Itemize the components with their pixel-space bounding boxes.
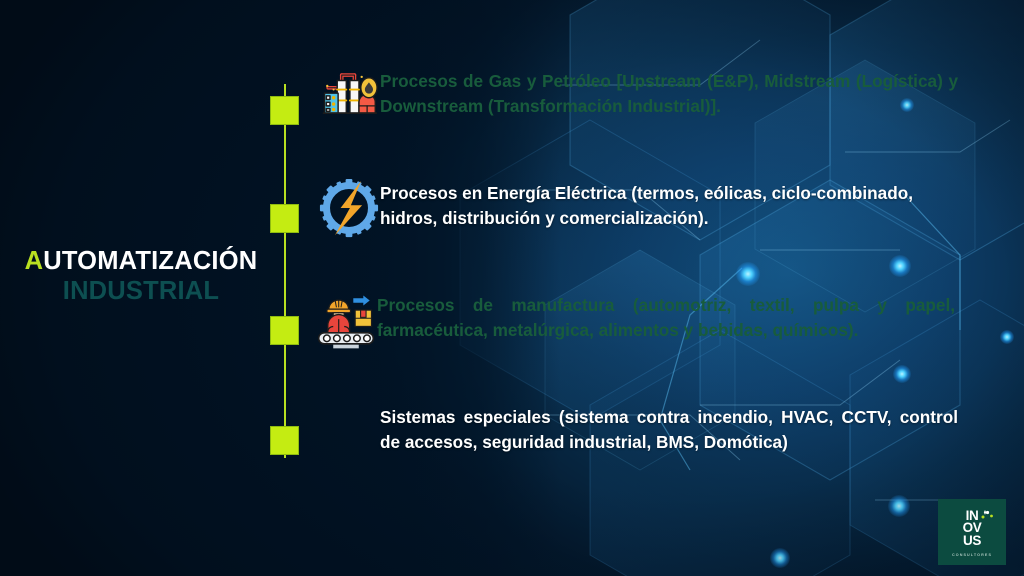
timeline-node-4[interactable] xyxy=(270,426,299,455)
title-accent-letter: A xyxy=(25,247,44,275)
timeline-connector-line xyxy=(284,84,286,458)
logo-mark: IN OV US xyxy=(950,508,994,552)
slide-canvas: AUTOMATIZACIÓN INDUSTRIAL xyxy=(0,0,1024,576)
title-line-primary: AUTOMATIZACIÓN xyxy=(0,248,282,276)
timeline-track xyxy=(270,70,306,470)
factory-worker-conveyor-icon xyxy=(315,290,377,352)
sparkle-icon xyxy=(979,508,995,522)
content-row-special-systems[interactable]: Sistemas especiales (sistema contra ince… xyxy=(318,402,958,464)
content-row-manufacturing[interactable]: Procesos de manufactura (automotriz, tex… xyxy=(315,290,955,352)
content-row-text: Procesos en Energía Eléctrica (termos, e… xyxy=(380,178,958,231)
title-primary-rest: UTOMATIZACIÓN xyxy=(43,247,257,275)
content-row-text: Sistemas especiales (sistema contra ince… xyxy=(380,402,958,455)
content-row-text: Procesos de manufactura (automotriz, tex… xyxy=(377,290,955,343)
content-row-text: Procesos de Gas y Petróleo [Upstream (E&… xyxy=(380,66,958,119)
logo-text-ov: OV xyxy=(950,521,994,535)
page-title: AUTOMATIZACIÓN INDUSTRIAL xyxy=(0,248,282,305)
logo-text-us: US xyxy=(950,534,994,548)
oil-refinery-icon xyxy=(318,66,380,128)
timeline-node-3[interactable] xyxy=(270,316,299,345)
logo-tagline: CONSULTORES xyxy=(952,553,992,557)
title-line-secondary: INDUSTRIAL xyxy=(0,278,282,306)
gear-lightning-icon xyxy=(318,178,380,240)
no-icon-placeholder xyxy=(318,402,380,464)
content-row-oil-gas[interactable]: Procesos de Gas y Petróleo [Upstream (E&… xyxy=(318,66,958,128)
timeline-node-2[interactable] xyxy=(270,204,299,233)
timeline-node-1[interactable] xyxy=(270,96,299,125)
company-logo[interactable]: IN OV US CONSULTORES xyxy=(938,499,1006,565)
content-row-electric-energy[interactable]: Procesos en Energía Eléctrica (termos, e… xyxy=(318,178,958,240)
